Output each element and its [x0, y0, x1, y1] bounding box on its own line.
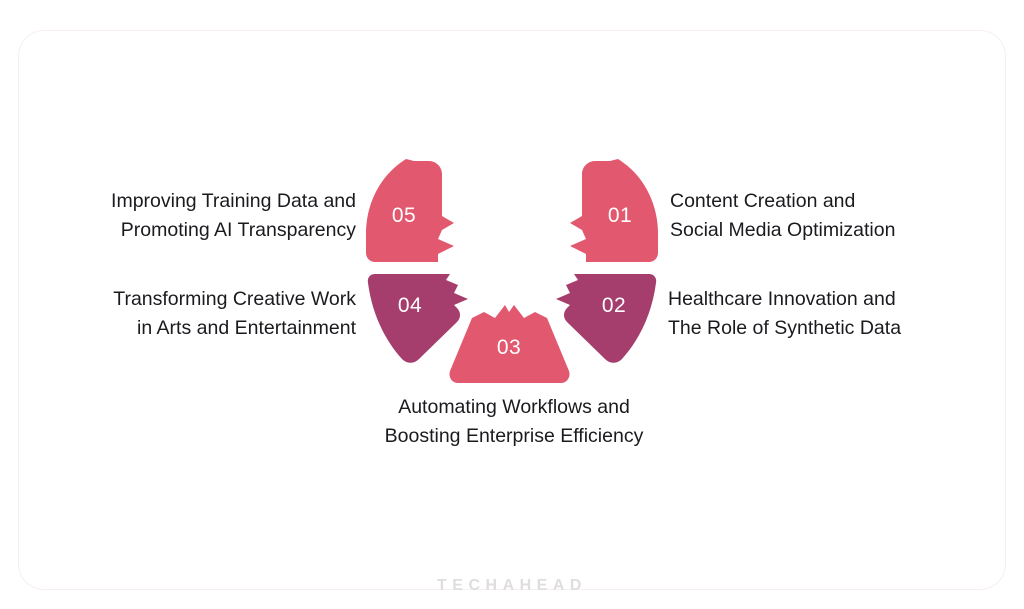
diagram-svg: 05 01 04 02 03 [362, 150, 662, 390]
brand-wordmark: TECHAHEAD [0, 577, 1024, 595]
segment-02[interactable]: 02 [556, 274, 656, 363]
label-segment-03: Automating Workflows and Boosting Enterp… [344, 393, 684, 450]
segment-03-number: 03 [497, 336, 521, 359]
label-segment-02: Healthcare Innovation and The Role of Sy… [668, 285, 998, 342]
segment-04-shape [368, 274, 468, 363]
label-segment-02-line1: Healthcare Innovation and [668, 285, 998, 314]
label-segment-05: Improving Training Data and Promoting AI… [36, 187, 356, 244]
segmented-arc-diagram: 05 01 04 02 03 [362, 150, 662, 390]
label-segment-04-line2: in Arts and Entertainment [36, 314, 356, 343]
label-segment-01: Content Creation and Social Media Optimi… [670, 187, 1000, 244]
segment-01[interactable]: 01 [570, 159, 658, 262]
segment-04-number: 04 [398, 294, 422, 317]
label-segment-04: Transforming Creative Work in Arts and E… [36, 285, 356, 342]
label-segment-01-line2: Social Media Optimization [670, 216, 1000, 245]
segment-05-number: 05 [392, 204, 416, 227]
label-segment-01-line1: Content Creation and [670, 187, 1000, 216]
label-segment-05-line1: Improving Training Data and [36, 187, 356, 216]
segment-01-number: 01 [608, 204, 632, 227]
segment-02-number: 02 [602, 294, 626, 317]
label-segment-05-line2: Promoting AI Transparency [36, 216, 356, 245]
label-segment-03-line1: Automating Workflows and [344, 393, 684, 422]
infographic-canvas: 05 01 04 02 03 Im [0, 0, 1024, 609]
label-segment-02-line2: The Role of Synthetic Data [668, 314, 998, 343]
segment-02-shape [556, 274, 656, 363]
label-segment-03-line2: Boosting Enterprise Efficiency [344, 422, 684, 451]
segment-05[interactable]: 05 [366, 159, 454, 262]
segment-04[interactable]: 04 [368, 274, 468, 363]
segment-03[interactable]: 03 [449, 305, 569, 383]
label-segment-04-line1: Transforming Creative Work [36, 285, 356, 314]
